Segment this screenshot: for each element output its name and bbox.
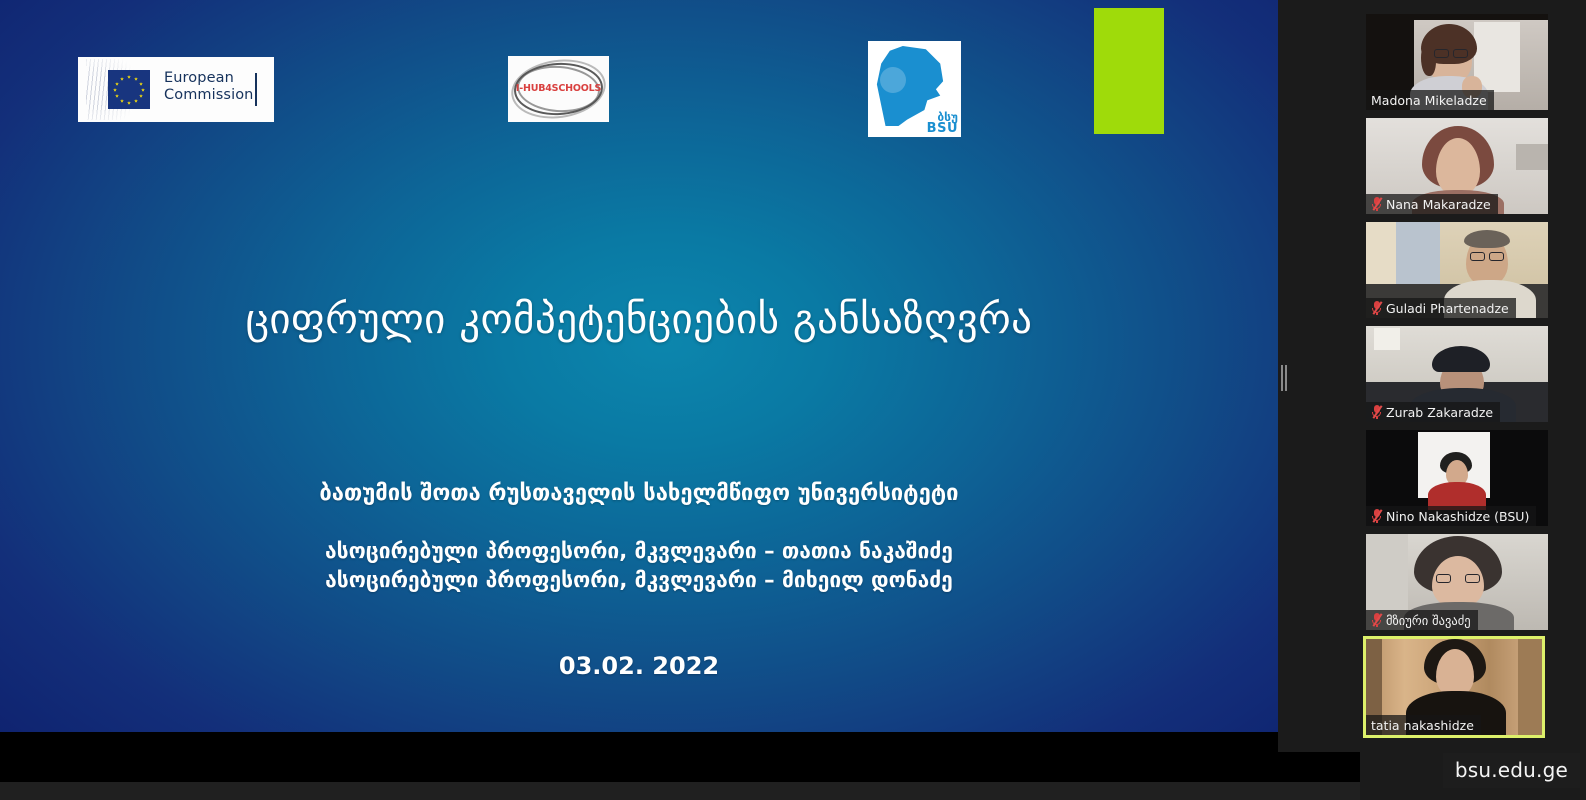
mic-muted-icon: [1371, 613, 1382, 627]
european-commission-logo: European Commission: [78, 57, 274, 122]
participant-name: მზიური შავაძე: [1386, 613, 1471, 628]
zoom-meeting-window: European Commission I-HUB4SCHOOLS ბსუ BS…: [0, 0, 1586, 800]
slide-authors: ასოცირებული პროფესორი, მკვლევარი – თათია…: [0, 537, 1278, 595]
participant-tile-active-speaker[interactable]: tatia nakashidze: [1363, 636, 1545, 738]
bsu-logo: ბსუ BSU: [868, 41, 961, 137]
ec-wordmark: European Commission: [164, 70, 253, 104]
slide-author-line-2: ასოცირებული პროფესორი, მკვლევარი – მიხეი…: [0, 566, 1278, 595]
participant-tile[interactable]: Nino Nakashidze (BSU): [1366, 430, 1548, 526]
participant-namebar: Nino Nakashidze (BSU): [1366, 506, 1536, 526]
participant-namebar: Nana Makaradze: [1366, 194, 1498, 214]
participant-name: tatia nakashidze: [1371, 718, 1474, 733]
participant-name: Madona Mikeladze: [1371, 93, 1487, 108]
bsu-face-detail: [880, 67, 906, 93]
participant-tile[interactable]: Zurab Zakaradze: [1366, 326, 1548, 422]
participant-tile[interactable]: Guladi Phartenadze: [1366, 222, 1548, 318]
participant-name: Zurab Zakaradze: [1386, 405, 1493, 420]
participant-name: Guladi Phartenadze: [1386, 301, 1509, 316]
i-hub4schools-wordmark: I-HUB4SCHOOLS: [508, 83, 609, 94]
slide-organization: ბათუმის შოთა რუსთაველის სახელმწიფო უნივე…: [0, 478, 1278, 510]
participant-name: Nino Nakashidze (BSU): [1386, 509, 1529, 524]
participant-tile[interactable]: Madona Mikeladze: [1366, 14, 1548, 110]
i-hub4schools-logo: I-HUB4SCHOOLS: [508, 56, 609, 122]
meeting-toolbar[interactable]: [0, 782, 1360, 800]
participant-tile[interactable]: Nana Makaradze: [1366, 118, 1548, 214]
ec-divider-bar: [255, 73, 257, 106]
slide-title: ციფრული კომპეტენციების განსაზღვრა: [0, 292, 1278, 346]
mic-muted-icon: [1371, 197, 1382, 211]
eu-stars: [108, 70, 150, 109]
splitter-drag-handle[interactable]: [1281, 365, 1288, 391]
participant-tile[interactable]: მზიური შავაძე: [1366, 534, 1548, 630]
shared-screen-stage[interactable]: European Commission I-HUB4SCHOOLS ბსუ BS…: [0, 0, 1278, 752]
presentation-slide: European Commission I-HUB4SCHOOLS ბსუ BS…: [0, 0, 1278, 742]
bsu-wordmark-en: BSU: [927, 123, 958, 135]
ec-wordmark-line-1: European: [164, 70, 253, 87]
mic-muted-icon: [1371, 405, 1382, 419]
mic-muted-icon: [1371, 509, 1382, 523]
participant-namebar: Guladi Phartenadze: [1366, 298, 1516, 318]
slide-author-line-1: ასოცირებული პროფესორი, მკვლევარი – თათია…: [0, 537, 1278, 566]
slide-date: 03.02. 2022: [0, 652, 1278, 680]
participant-namebar: მზიური შავაძე: [1366, 610, 1478, 630]
ec-wordmark-line-2: Commission: [164, 87, 253, 104]
participant-name: Nana Makaradze: [1386, 197, 1491, 212]
green-accent-block: [1094, 8, 1164, 134]
participant-namebar: tatia nakashidze: [1366, 715, 1481, 735]
panel-splitter[interactable]: [1278, 0, 1360, 752]
mic-muted-icon: [1371, 301, 1382, 315]
bsu-wordmark: ბსუ BSU: [927, 111, 958, 135]
participant-filmstrip[interactable]: Madona Mikeladze Nana Makaradze: [1360, 0, 1586, 800]
participant-namebar: Madona Mikeladze: [1366, 90, 1494, 110]
eu-flag-icon: [108, 70, 150, 109]
participant-namebar: Zurab Zakaradze: [1366, 402, 1500, 422]
watermark: bsu.edu.ge: [1443, 753, 1580, 788]
